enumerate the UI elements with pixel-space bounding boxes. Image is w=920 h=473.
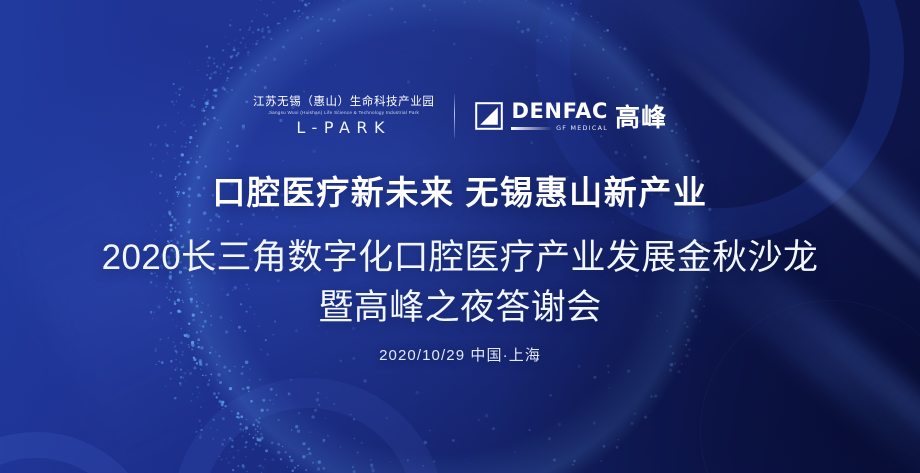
logo-divider <box>454 94 455 138</box>
denfac-subtitle: GF MEDICAL <box>556 125 608 131</box>
event-poster: 江苏无锡（惠山）生命科技产业园 Jiangsu Wuxi (Huishan) L… <box>0 0 920 473</box>
poster-subtitle-line1: 2020长三角数字化口腔医疗产业发展金秋沙龙 <box>0 240 920 275</box>
poster-subtitle-line2: 暨高峰之夜答谢会 <box>0 290 920 325</box>
denfac-gradient-bar <box>511 127 551 130</box>
logo-row: 江苏无锡（惠山）生命科技产业园 Jiangsu Wuxi (Huishan) L… <box>0 90 920 142</box>
poster-headline: 口腔医疗新未来 无锡惠山新产业 <box>0 176 920 209</box>
denfac-logo-icon <box>475 102 503 130</box>
denfac-chinese-name: 高峰 <box>615 106 667 131</box>
poster-date-location: 2020/10/29 中国·上海 <box>0 348 920 363</box>
lpark-wordmark: L-PARK <box>296 120 391 136</box>
denfac-wordblock: DENFAC GF MEDICAL <box>511 101 608 131</box>
denfac-subtitle-row: GF MEDICAL <box>511 125 608 131</box>
denfac-text-group: DENFAC GF MEDICAL 高峰 <box>511 101 667 131</box>
logo-denfac: DENFAC GF MEDICAL 高峰 <box>475 101 667 131</box>
poster-content: 江苏无锡（惠山）生命科技产业园 Jiangsu Wuxi (Huishan) L… <box>0 0 920 473</box>
lpark-chinese-name: 江苏无锡（惠山）生命科技产业园 <box>253 96 435 109</box>
denfac-wordmark: DENFAC <box>511 101 608 122</box>
logo-lpark: 江苏无锡（惠山）生命科技产业园 Jiangsu Wuxi (Huishan) L… <box>253 96 435 136</box>
lpark-english-name: Jiangsu Wuxi (Huishan) Life Science & Te… <box>268 110 419 116</box>
